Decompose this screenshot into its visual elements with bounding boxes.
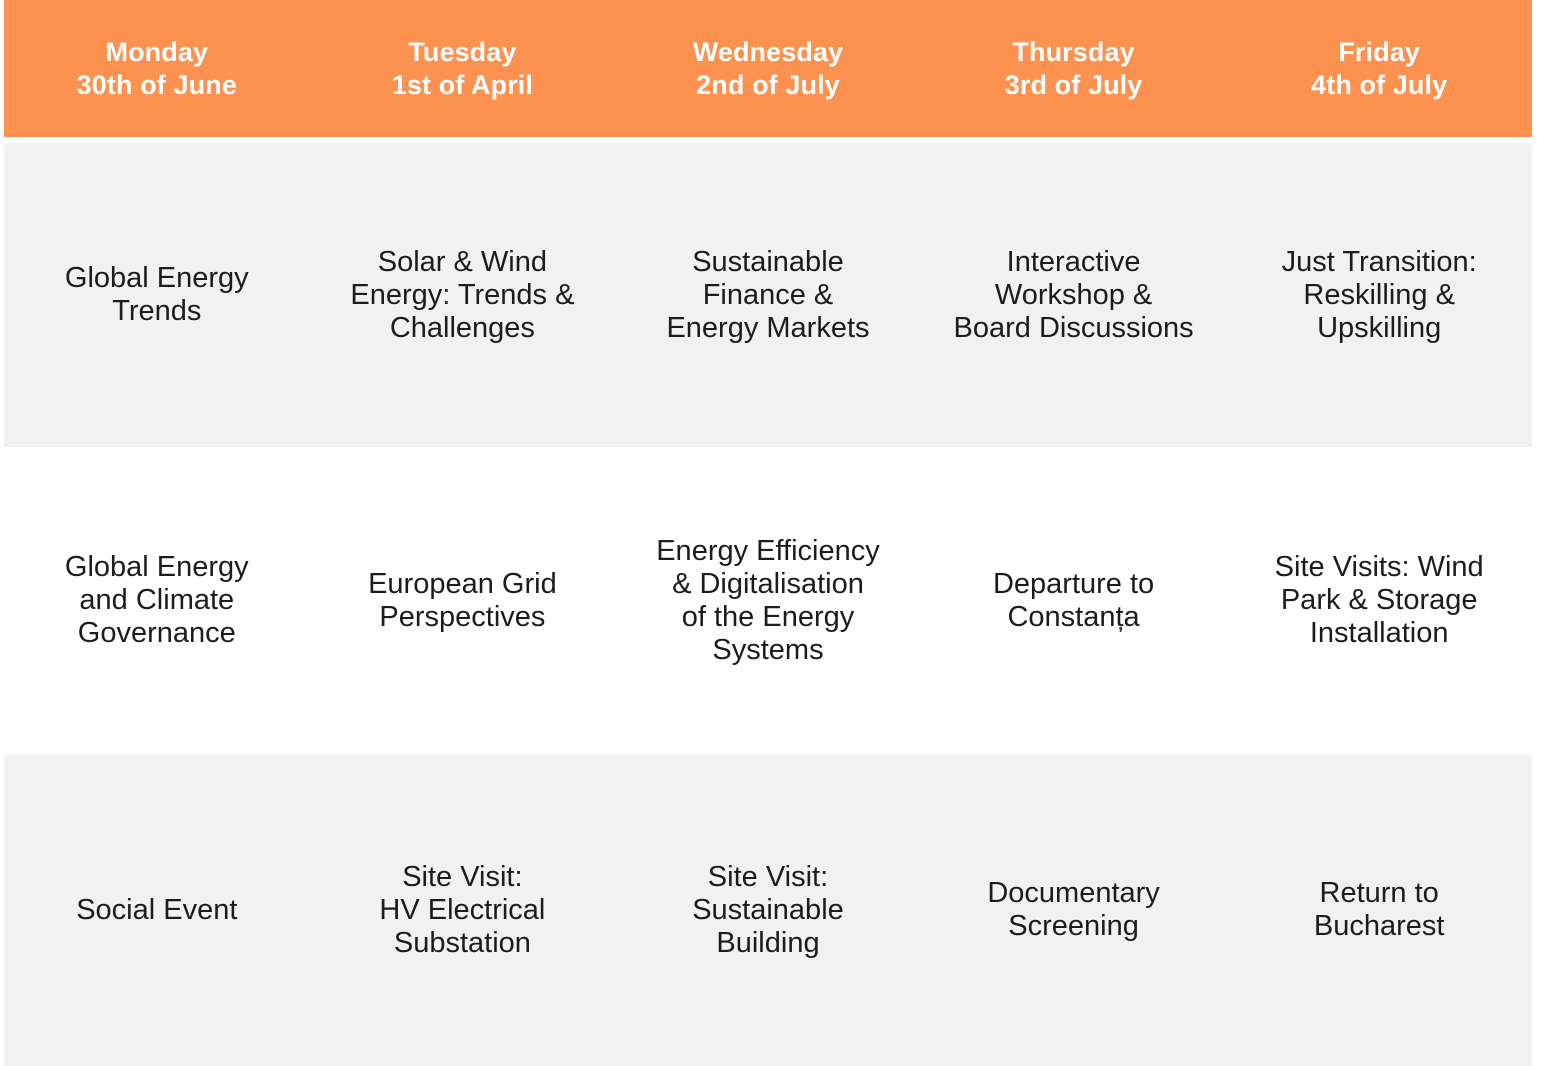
header-cell-tuesday: Tuesday 1st of April bbox=[310, 36, 616, 102]
session-cell: Global Energy and Climate Governance bbox=[4, 551, 310, 650]
header-cell-wednesday: Wednesday 2nd of July bbox=[615, 36, 921, 102]
session-cell: Energy Efficiency & Digitalisation of th… bbox=[615, 535, 921, 667]
header-cell-monday: Monday 30th of June bbox=[4, 36, 310, 102]
session-cell: Departure to Constanța bbox=[921, 568, 1227, 634]
header-dayname-monday: Monday bbox=[10, 36, 304, 69]
session-cell: Just Transition: Reskilling & Upskilling bbox=[1226, 246, 1532, 345]
header-daydate-friday: 4th of July bbox=[1232, 69, 1526, 102]
session-cell: Documentary Screening bbox=[921, 877, 1227, 943]
schedule-row: Global Energy Trends Solar & Wind Energy… bbox=[4, 143, 1532, 447]
header-dayname-thursday: Thursday bbox=[927, 36, 1221, 69]
header-dayname-wednesday: Wednesday bbox=[621, 36, 915, 69]
session-cell: Social Event bbox=[4, 894, 310, 927]
session-cell: Site Visits: Wind Park & Storage Install… bbox=[1226, 551, 1532, 650]
header-cell-friday: Friday 4th of July bbox=[1226, 36, 1532, 102]
session-cell: Site Visit: HV Electrical Substation bbox=[310, 861, 616, 960]
header-daydate-thursday: 3rd of July bbox=[927, 69, 1221, 102]
header-dayname-friday: Friday bbox=[1232, 36, 1526, 69]
schedule-row: Global Energy and Climate Governance Eur… bbox=[4, 447, 1532, 754]
session-cell: Return to Bucharest bbox=[1226, 877, 1532, 943]
session-cell: European Grid Perspectives bbox=[310, 568, 616, 634]
schedule-header-row: Monday 30th of June Tuesday 1st of April… bbox=[4, 0, 1532, 137]
session-cell: Solar & Wind Energy: Trends & Challenges bbox=[310, 246, 616, 345]
session-cell: Site Visit: Sustainable Building bbox=[615, 861, 921, 960]
header-dayname-tuesday: Tuesday bbox=[316, 36, 610, 69]
header-daydate-monday: 30th of June bbox=[10, 69, 304, 102]
session-cell: Interactive Workshop & Board Discussions bbox=[921, 246, 1227, 345]
header-cell-thursday: Thursday 3rd of July bbox=[921, 36, 1227, 102]
session-cell: Sustainable Finance & Energy Markets bbox=[615, 246, 921, 345]
weekly-schedule-table: Monday 30th of June Tuesday 1st of April… bbox=[0, 0, 1544, 1066]
header-daydate-wednesday: 2nd of July bbox=[621, 69, 915, 102]
header-daydate-tuesday: 1st of April bbox=[316, 69, 610, 102]
session-cell: Global Energy Trends bbox=[4, 262, 310, 328]
schedule-row: Social Event Site Visit: HV Electrical S… bbox=[4, 754, 1532, 1066]
